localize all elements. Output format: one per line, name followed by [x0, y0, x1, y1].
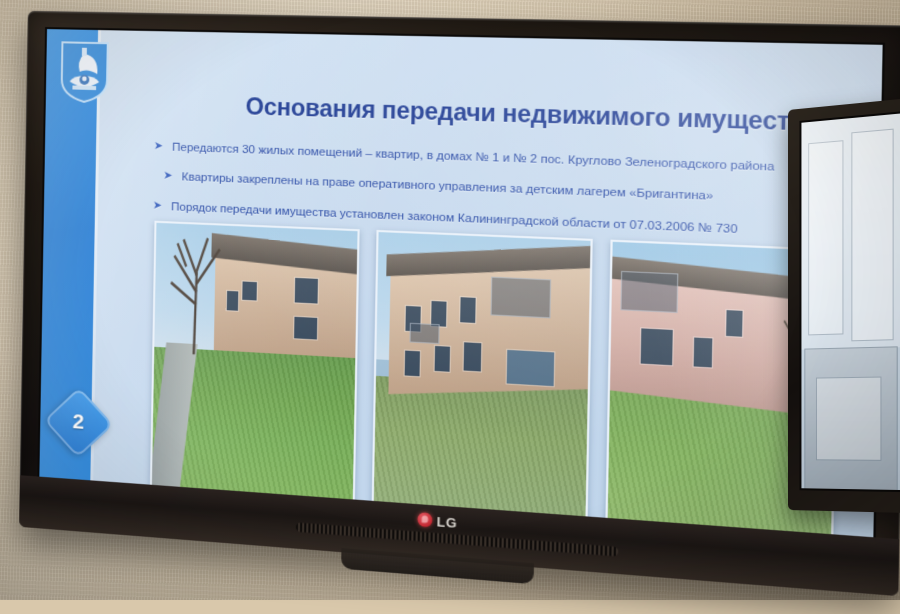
residential-building-photo-1 — [150, 221, 360, 510]
residential-building-photo-2 — [372, 230, 593, 527]
secondary-display-screen[interactable] — [801, 113, 900, 490]
arrow-bullet-icon: ➤ — [163, 170, 172, 184]
arrow-bullet-icon: ➤ — [153, 199, 162, 213]
lg-brand-mark-icon — [417, 512, 432, 528]
slide-number-text: 2 — [73, 410, 85, 435]
slide-photo-row — [150, 221, 839, 538]
lg-brand-text: LG — [437, 513, 458, 530]
secondary-screen-glare — [801, 113, 900, 490]
coat-of-arms-emblem-icon — [57, 39, 111, 104]
secondary-display[interactable] — [788, 98, 900, 513]
arrow-bullet-icon: ➤ — [154, 140, 163, 154]
lg-logo-icon: LG — [417, 511, 457, 530]
presentation-slide: 2 Основания передачи недвижимого имущест… — [39, 29, 882, 537]
main-television[interactable]: 2 Основания передачи недвижимого имущест… — [19, 11, 900, 596]
tv-screen[interactable]: 2 Основания передачи недвижимого имущест… — [39, 29, 882, 537]
